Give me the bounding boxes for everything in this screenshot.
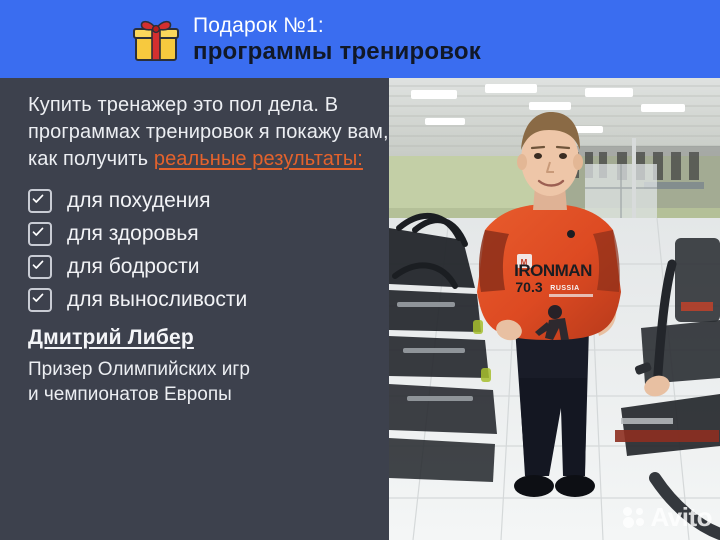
signature-block: Дмитрий Либер Призер Олимпийских игр и ч…: [28, 326, 389, 407]
lead-paragraph: Купить тренажер это пол дела. В программ…: [28, 92, 389, 173]
header-text-block: Подарок №1: программы тренировок: [193, 15, 481, 64]
list-item: для здоровья: [28, 222, 389, 246]
svg-text:RUSSIA: RUSSIA: [550, 285, 579, 292]
checkbox-checked-icon: [28, 288, 52, 312]
lead-accent-text: реальные результаты:: [154, 146, 363, 173]
checklist-label: для выносливости: [67, 289, 247, 311]
checkbox-checked-icon: [28, 222, 52, 246]
checkbox-checked-icon: [28, 189, 52, 213]
promo-banner: Подарок №1: программы тренировок Купить …: [0, 0, 720, 540]
benefits-checklist: для похудения для здоровья для бодрости …: [28, 189, 389, 312]
list-item: для выносливости: [28, 288, 389, 312]
gift-icon: [133, 17, 179, 63]
svg-text:70.3: 70.3: [515, 279, 542, 295]
checklist-label: для похудения: [67, 190, 210, 212]
left-content-panel: Купить тренажер это пол дела. В программ…: [0, 78, 389, 540]
svg-text:IRONMAN: IRONMAN: [514, 261, 592, 280]
author-role-line2: и чемпионатов Европы: [28, 382, 389, 407]
list-item: для похудения: [28, 189, 389, 213]
checkbox-checked-icon: [28, 255, 52, 279]
list-item: для бодрости: [28, 255, 389, 279]
author-name: Дмитрий Либер: [28, 326, 194, 350]
checklist-label: для бодрости: [67, 256, 199, 278]
header-title-line1: Подарок №1:: [193, 15, 481, 36]
gym-photo: M IRONMAN 70.3 RUSSIA: [389, 78, 720, 540]
checklist-label: для здоровья: [67, 223, 199, 245]
banner-header: Подарок №1: программы тренировок: [0, 0, 720, 78]
author-role-line1: Призер Олимпийских игр: [28, 357, 389, 382]
header-title-line2: программы тренировок: [193, 40, 481, 64]
